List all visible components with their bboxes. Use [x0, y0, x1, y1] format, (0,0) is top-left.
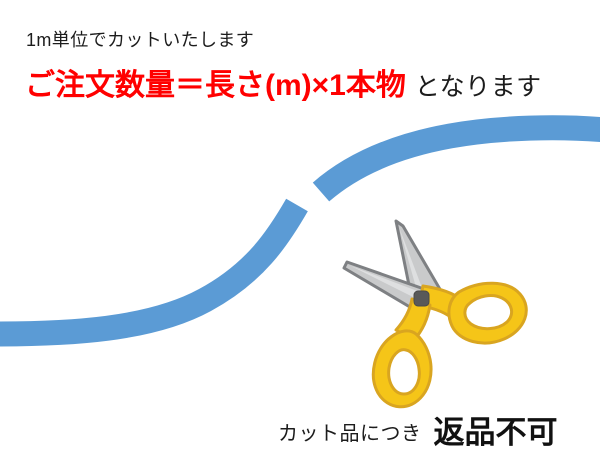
cut-service-notice-canvas: 1m単位でカットいたします ご注文数量＝長さ(m)×1本物となります カット品に…: [0, 0, 600, 466]
scissors-graphic: [344, 221, 526, 407]
return-policy-emphasis: 返品不可: [434, 415, 558, 450]
return-policy-prefix: カット品につき: [278, 423, 422, 445]
order-formula-emphasis: ご注文数量＝長さ(m)×1本物: [25, 69, 406, 102]
scissors-handle-loop-right: [449, 283, 526, 343]
order-formula-suffix: となります: [415, 73, 542, 101]
order-formula-line: ご注文数量＝長さ(m)×1本物となります: [25, 71, 542, 101]
return-policy-line: カット品につき返品不可: [278, 414, 558, 445]
cut-unit-note: 1m単位でカットいたします: [26, 31, 254, 49]
cord-right-segment: [321, 128, 600, 192]
cord-left-segment: [0, 205, 297, 334]
scissors-handle-loop-lower: [373, 331, 431, 407]
scissors-pivot-icon: [414, 291, 429, 306]
